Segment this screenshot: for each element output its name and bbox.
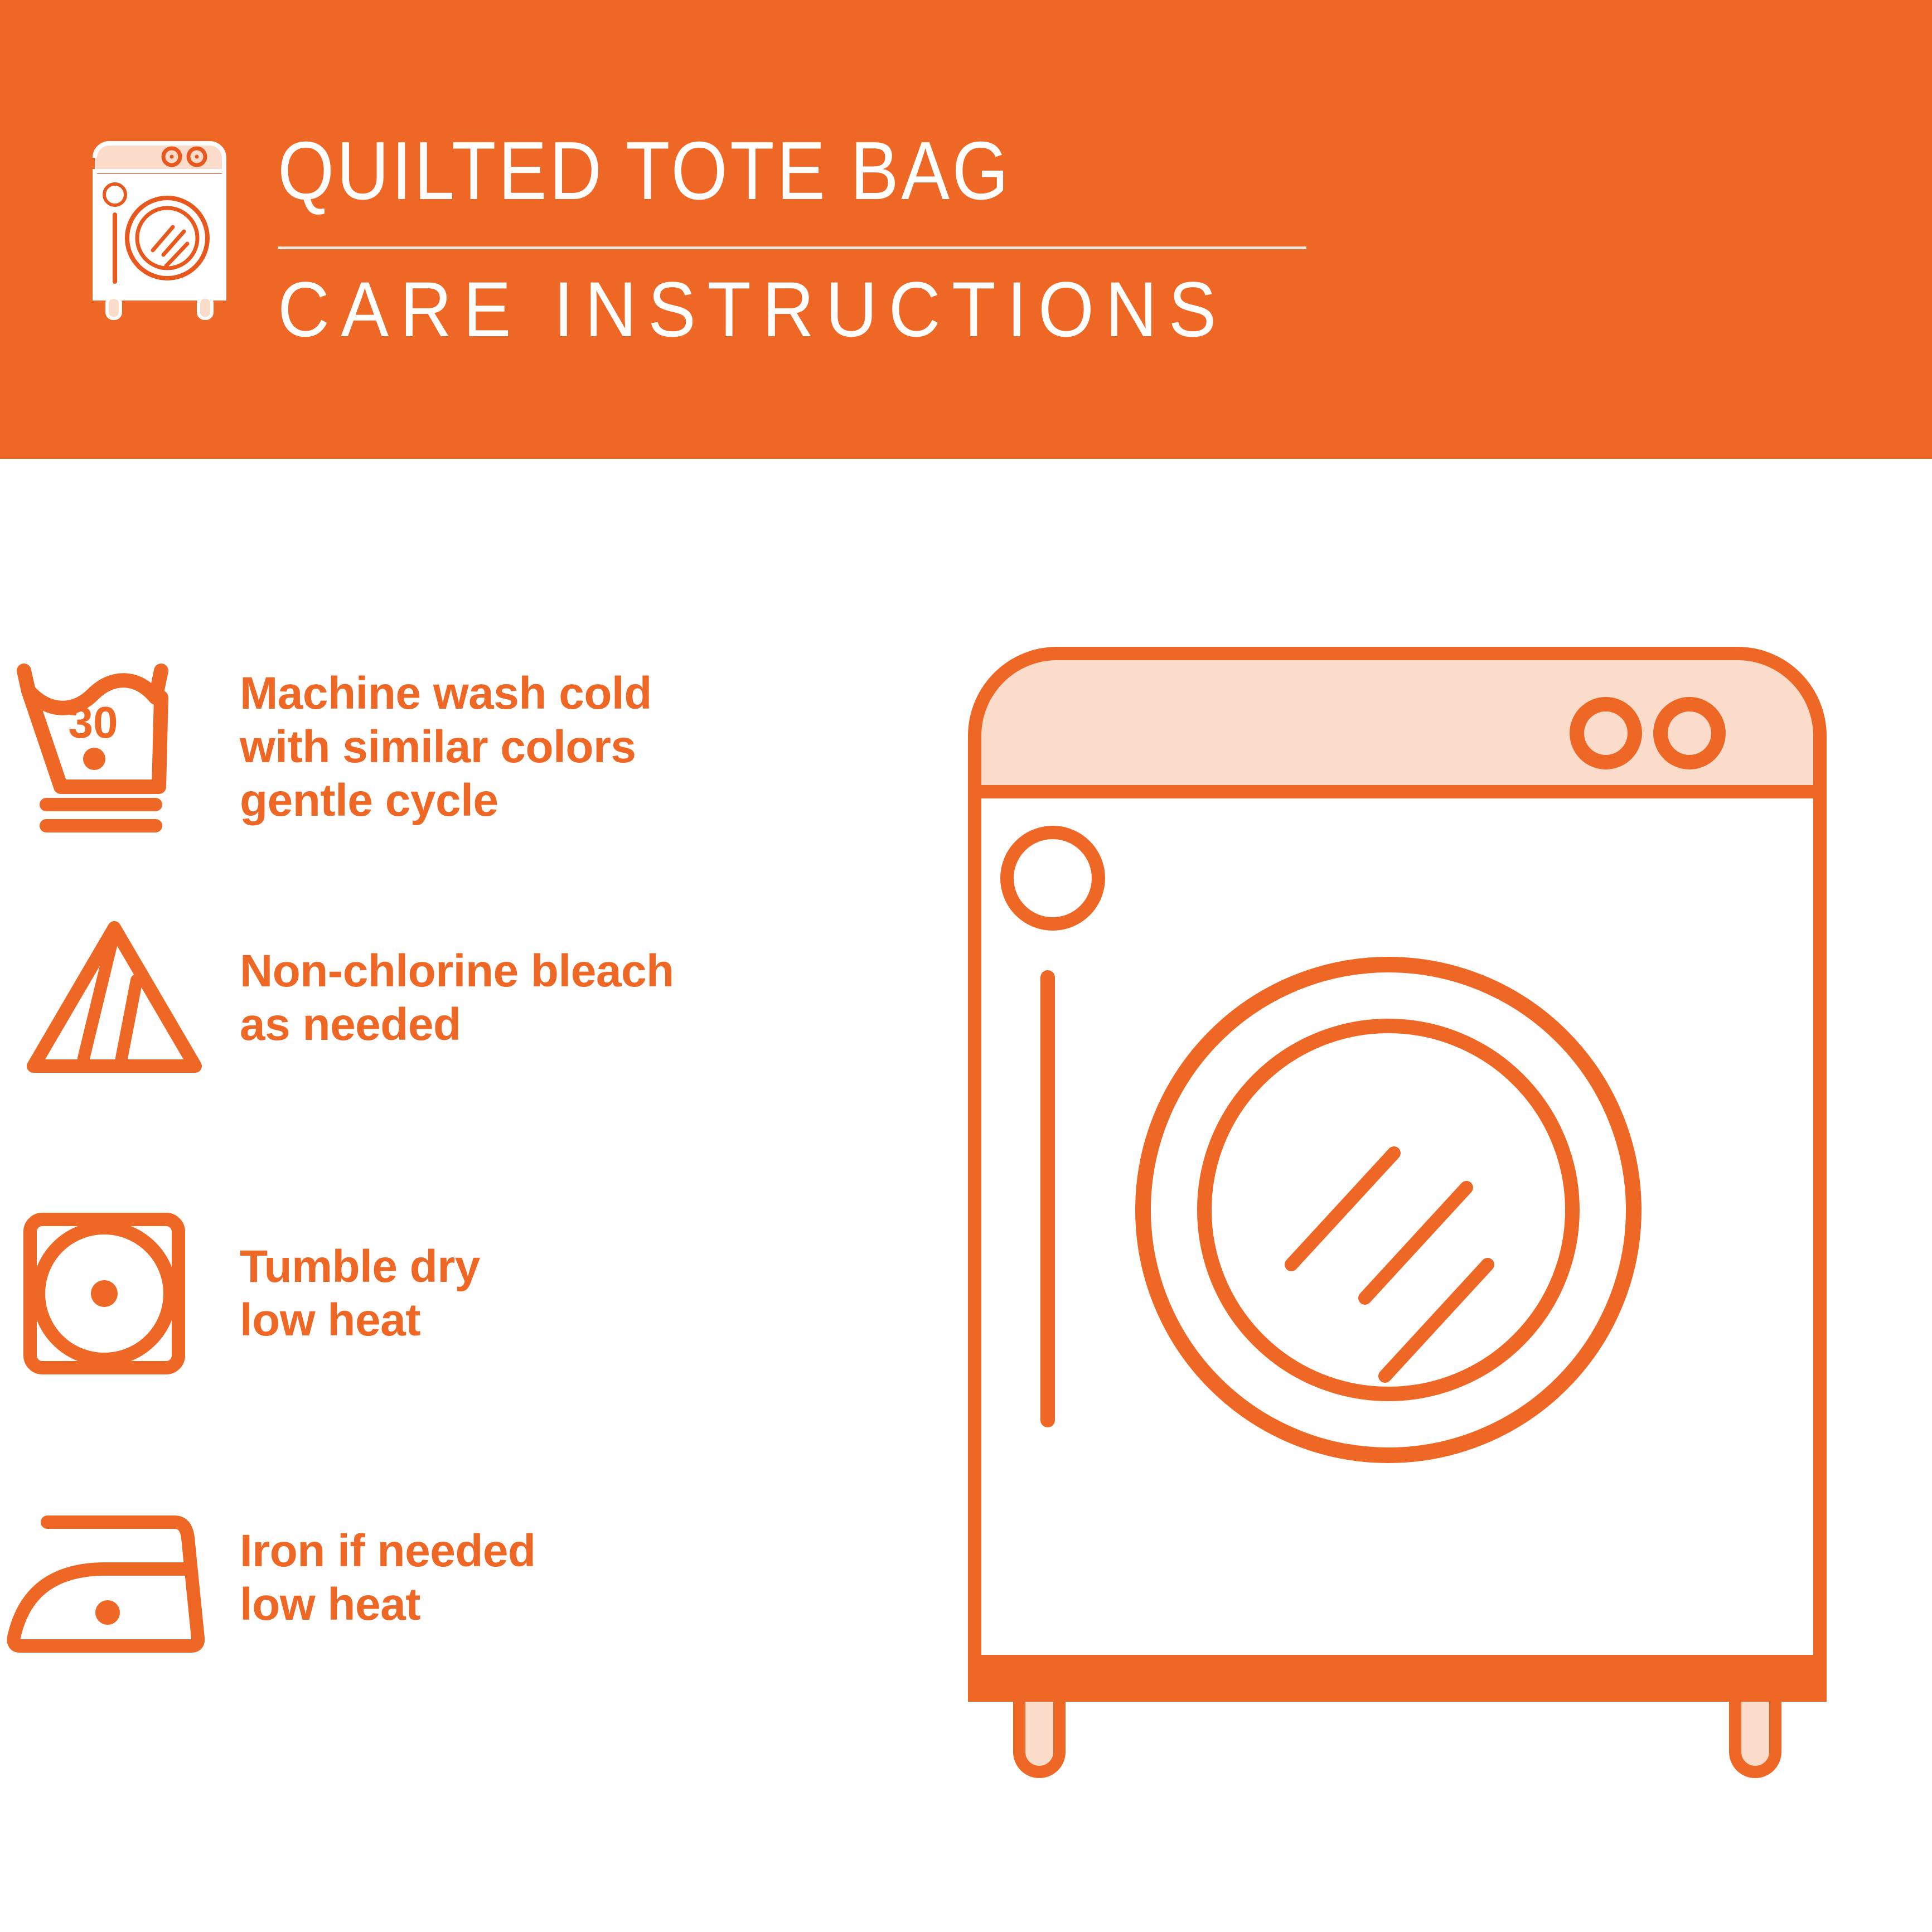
care-label-iron: Iron if needed low heat — [240, 1524, 937, 1631]
header-title-group: QUILTED TOTE BAG CARE INSTRUCTIONS — [278, 129, 1605, 213]
front-load-washing-machine-illustration — [948, 624, 1885, 1873]
care-row-bleach: Non-chlorine bleach as needed — [0, 892, 937, 1104]
page-title: QUILTED TOTE BAG — [278, 129, 1445, 213]
wash-temperature-value: 30 — [69, 698, 118, 747]
header-banner: QUILTED TOTE BAG CARE INSTRUCTIONS — [0, 0, 1932, 459]
care-instructions-page: QUILTED TOTE BAG CARE INSTRUCTIONS 30 — [0, 0, 1932, 1932]
title-divider — [278, 246, 1306, 249]
iron-low-heat-icon — [0, 1472, 226, 1684]
care-row-iron: Iron if needed low heat — [0, 1472, 937, 1684]
washing-machine-icon — [83, 137, 250, 326]
care-label-tumble-dry: Tumble dry low heat — [240, 1240, 937, 1347]
care-row-machine-wash: 30 Machine wash cold with similar colors… — [0, 641, 937, 853]
care-row-tumble-dry: Tumble dry low heat — [0, 1188, 937, 1400]
tumble-dry-low-heat-icon — [0, 1188, 224, 1400]
wash-tub-30-gentle-icon: 30 — [0, 641, 230, 853]
care-label-bleach: Non-chlorine bleach as needed — [240, 945, 937, 1052]
page-subtitle: CARE INSTRUCTIONS — [278, 268, 1228, 351]
non-chlorine-bleach-triangle-icon — [0, 892, 234, 1104]
care-label-machine-wash: Machine wash cold with similar colors ge… — [240, 667, 937, 827]
